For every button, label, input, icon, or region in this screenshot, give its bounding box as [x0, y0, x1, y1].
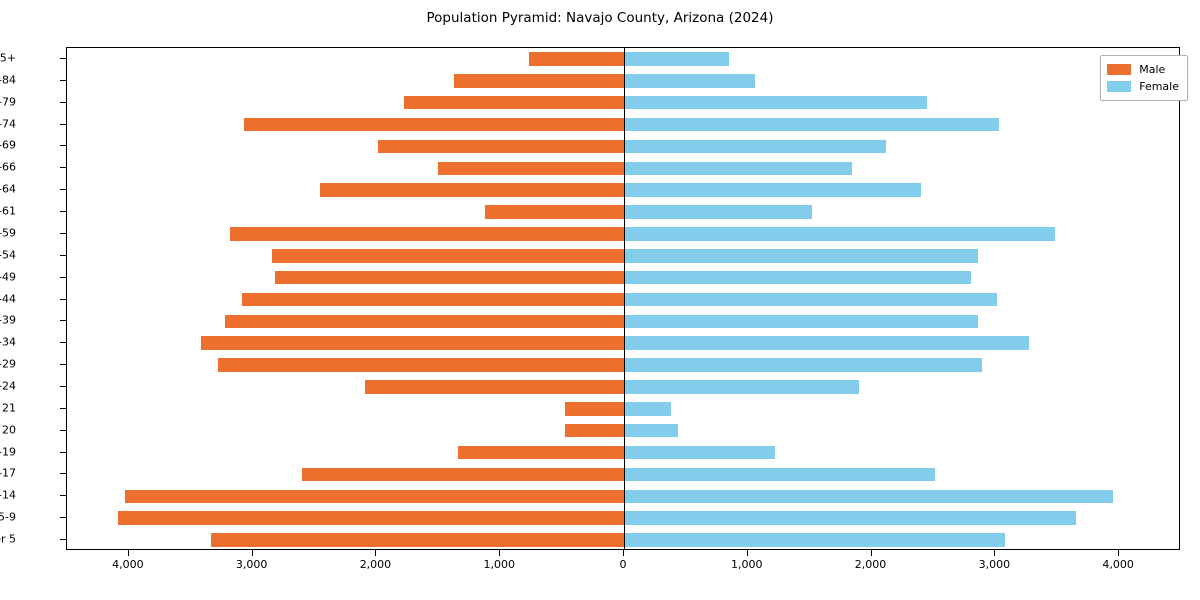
bar-female[interactable] — [624, 227, 1055, 241]
y-axis-tick — [60, 299, 66, 300]
pyramid-row — [67, 533, 1179, 547]
bar-male[interactable] — [565, 424, 624, 438]
y-axis-label: Under 5 — [0, 533, 16, 546]
y-axis-tick — [60, 145, 66, 146]
x-axis-tick — [747, 550, 748, 556]
bar-male[interactable] — [529, 52, 624, 66]
bar-female[interactable] — [624, 183, 921, 197]
bar-male[interactable] — [118, 511, 624, 525]
bar-female[interactable] — [624, 424, 678, 438]
legend-item[interactable]: Female — [1107, 78, 1179, 95]
pyramid-row — [67, 424, 1179, 438]
bar-male[interactable] — [458, 446, 624, 460]
x-axis-label: 2,000 — [360, 558, 392, 571]
bar-male[interactable] — [365, 380, 624, 394]
bar-female[interactable] — [624, 162, 852, 176]
y-axis-label: 15-17 — [0, 467, 16, 480]
bar-female[interactable] — [624, 271, 971, 285]
pyramid-row — [67, 271, 1179, 285]
pyramid-row — [67, 490, 1179, 504]
x-axis-tick — [623, 550, 624, 556]
y-axis-label: 65-66 — [0, 161, 16, 174]
zero-axis-line — [624, 48, 625, 549]
y-axis-label: 20 — [0, 423, 16, 436]
pyramid-row — [67, 468, 1179, 482]
y-axis-tick — [60, 255, 66, 256]
y-axis-tick — [60, 102, 66, 103]
x-axis-label: 2,000 — [855, 558, 887, 571]
bar-female[interactable] — [624, 402, 671, 416]
pyramid-row — [67, 293, 1179, 307]
pyramid-row — [67, 140, 1179, 154]
bar-male[interactable] — [201, 336, 624, 350]
pyramid-row — [67, 249, 1179, 263]
y-axis-tick — [60, 386, 66, 387]
bar-male[interactable] — [275, 271, 624, 285]
y-axis-label: 50-54 — [0, 248, 16, 261]
bar-male[interactable] — [404, 96, 624, 110]
pyramid-row — [67, 96, 1179, 110]
pyramid-row — [67, 380, 1179, 394]
bar-female[interactable] — [624, 533, 1005, 547]
pyramid-row — [67, 402, 1179, 416]
bar-female[interactable] — [624, 358, 982, 372]
bar-male[interactable] — [242, 293, 624, 307]
y-axis-label: 60-61 — [0, 205, 16, 218]
bar-male[interactable] — [454, 74, 624, 88]
pyramid-row — [67, 183, 1179, 197]
bar-male[interactable] — [125, 490, 624, 504]
bar-male[interactable] — [225, 315, 624, 329]
x-axis-tick — [128, 550, 129, 556]
y-axis-tick — [60, 408, 66, 409]
bar-female[interactable] — [624, 52, 729, 66]
y-axis-tick — [60, 80, 66, 81]
y-axis-tick — [60, 495, 66, 496]
y-axis-tick — [60, 233, 66, 234]
legend-swatch-icon — [1107, 64, 1131, 75]
y-axis-label: 55-59 — [0, 226, 16, 239]
y-axis-tick — [60, 189, 66, 190]
bar-female[interactable] — [624, 118, 999, 132]
bar-male[interactable] — [438, 162, 624, 176]
bar-male[interactable] — [565, 402, 624, 416]
y-axis-label: 25-29 — [0, 358, 16, 371]
bar-male[interactable] — [378, 140, 624, 154]
legend-swatch-icon — [1107, 81, 1131, 92]
pyramid-row — [67, 358, 1179, 372]
legend: MaleFemale — [1100, 55, 1188, 101]
x-axis-tick — [375, 550, 376, 556]
x-axis-tick — [252, 550, 253, 556]
pyramid-row — [67, 336, 1179, 350]
legend-label: Male — [1139, 63, 1165, 76]
y-axis-tick — [60, 320, 66, 321]
bar-female[interactable] — [624, 380, 859, 394]
bar-male[interactable] — [230, 227, 624, 241]
y-axis-label: 21 — [0, 401, 16, 414]
pyramid-row — [67, 74, 1179, 88]
bar-female[interactable] — [624, 96, 927, 110]
plot-area — [66, 47, 1180, 550]
x-axis-label: 1,000 — [731, 558, 763, 571]
legend-item[interactable]: Male — [1107, 61, 1179, 78]
y-axis-label: 80-84 — [0, 73, 16, 86]
y-axis-tick — [60, 211, 66, 212]
bar-female[interactable] — [624, 490, 1113, 504]
y-axis-label: 30-34 — [0, 336, 16, 349]
pyramid-row — [67, 52, 1179, 66]
x-axis-label: 3,000 — [979, 558, 1011, 571]
x-axis-tick — [994, 550, 995, 556]
bar-male[interactable] — [244, 118, 624, 132]
y-axis-label: 22-24 — [0, 379, 16, 392]
y-axis-tick — [60, 167, 66, 168]
y-axis-label: 35-39 — [0, 314, 16, 327]
bar-male[interactable] — [320, 183, 624, 197]
y-axis-tick — [60, 342, 66, 343]
pyramid-row — [67, 227, 1179, 241]
y-axis-tick — [60, 539, 66, 540]
y-axis-tick — [60, 277, 66, 278]
pyramid-row — [67, 315, 1179, 329]
y-axis-label: 45-49 — [0, 270, 16, 283]
chart-title: Population Pyramid: Navajo County, Arizo… — [0, 10, 1200, 26]
bar-female[interactable] — [624, 249, 978, 263]
y-axis-tick — [60, 517, 66, 518]
bar-male[interactable] — [302, 468, 624, 482]
bar-male[interactable] — [272, 249, 624, 263]
bar-female[interactable] — [624, 315, 978, 329]
y-axis-tick — [60, 430, 66, 431]
x-axis-label: 3,000 — [236, 558, 268, 571]
bars-container — [67, 48, 1179, 549]
x-axis-tick — [499, 550, 500, 556]
y-axis-tick — [60, 452, 66, 453]
y-axis-tick — [60, 473, 66, 474]
bar-female[interactable] — [624, 74, 755, 88]
bar-female[interactable] — [624, 293, 997, 307]
y-axis-label: 18-19 — [0, 445, 16, 458]
x-axis-label: 4,000 — [112, 558, 144, 571]
pyramid-row — [67, 205, 1179, 219]
x-axis-label: 1,000 — [483, 558, 515, 571]
pyramid-row — [67, 118, 1179, 132]
bar-female[interactable] — [624, 205, 812, 219]
y-axis-tick — [60, 58, 66, 59]
y-axis-label: 75-79 — [0, 95, 16, 108]
legend-label: Female — [1139, 80, 1179, 93]
pyramid-row — [67, 162, 1179, 176]
y-axis-label: 5-9 — [0, 511, 16, 524]
bar-male[interactable] — [218, 358, 624, 372]
y-axis-tick — [60, 364, 66, 365]
y-axis-label: 67-69 — [0, 139, 16, 152]
population-pyramid-figure: Population Pyramid: Navajo County, Arizo… — [0, 0, 1200, 600]
pyramid-row — [67, 511, 1179, 525]
bar-female[interactable] — [624, 511, 1076, 525]
x-axis-tick — [871, 550, 872, 556]
x-axis-label: 0 — [620, 558, 627, 571]
bar-female[interactable] — [624, 336, 1029, 350]
pyramid-row — [67, 446, 1179, 460]
bar-male[interactable] — [211, 533, 624, 547]
y-axis-tick — [60, 124, 66, 125]
bar-female[interactable] — [624, 468, 935, 482]
y-axis-label: 40-44 — [0, 292, 16, 305]
bar-male[interactable] — [485, 205, 624, 219]
bar-female[interactable] — [624, 140, 886, 154]
y-axis-label: 62-64 — [0, 183, 16, 196]
x-axis-tick — [1118, 550, 1119, 556]
bar-female[interactable] — [624, 446, 775, 460]
y-axis-label: 10-14 — [0, 489, 16, 502]
x-axis-label: 4,000 — [1102, 558, 1134, 571]
y-axis-label: 70-74 — [0, 117, 16, 130]
y-axis-label: 85+ — [0, 51, 16, 64]
